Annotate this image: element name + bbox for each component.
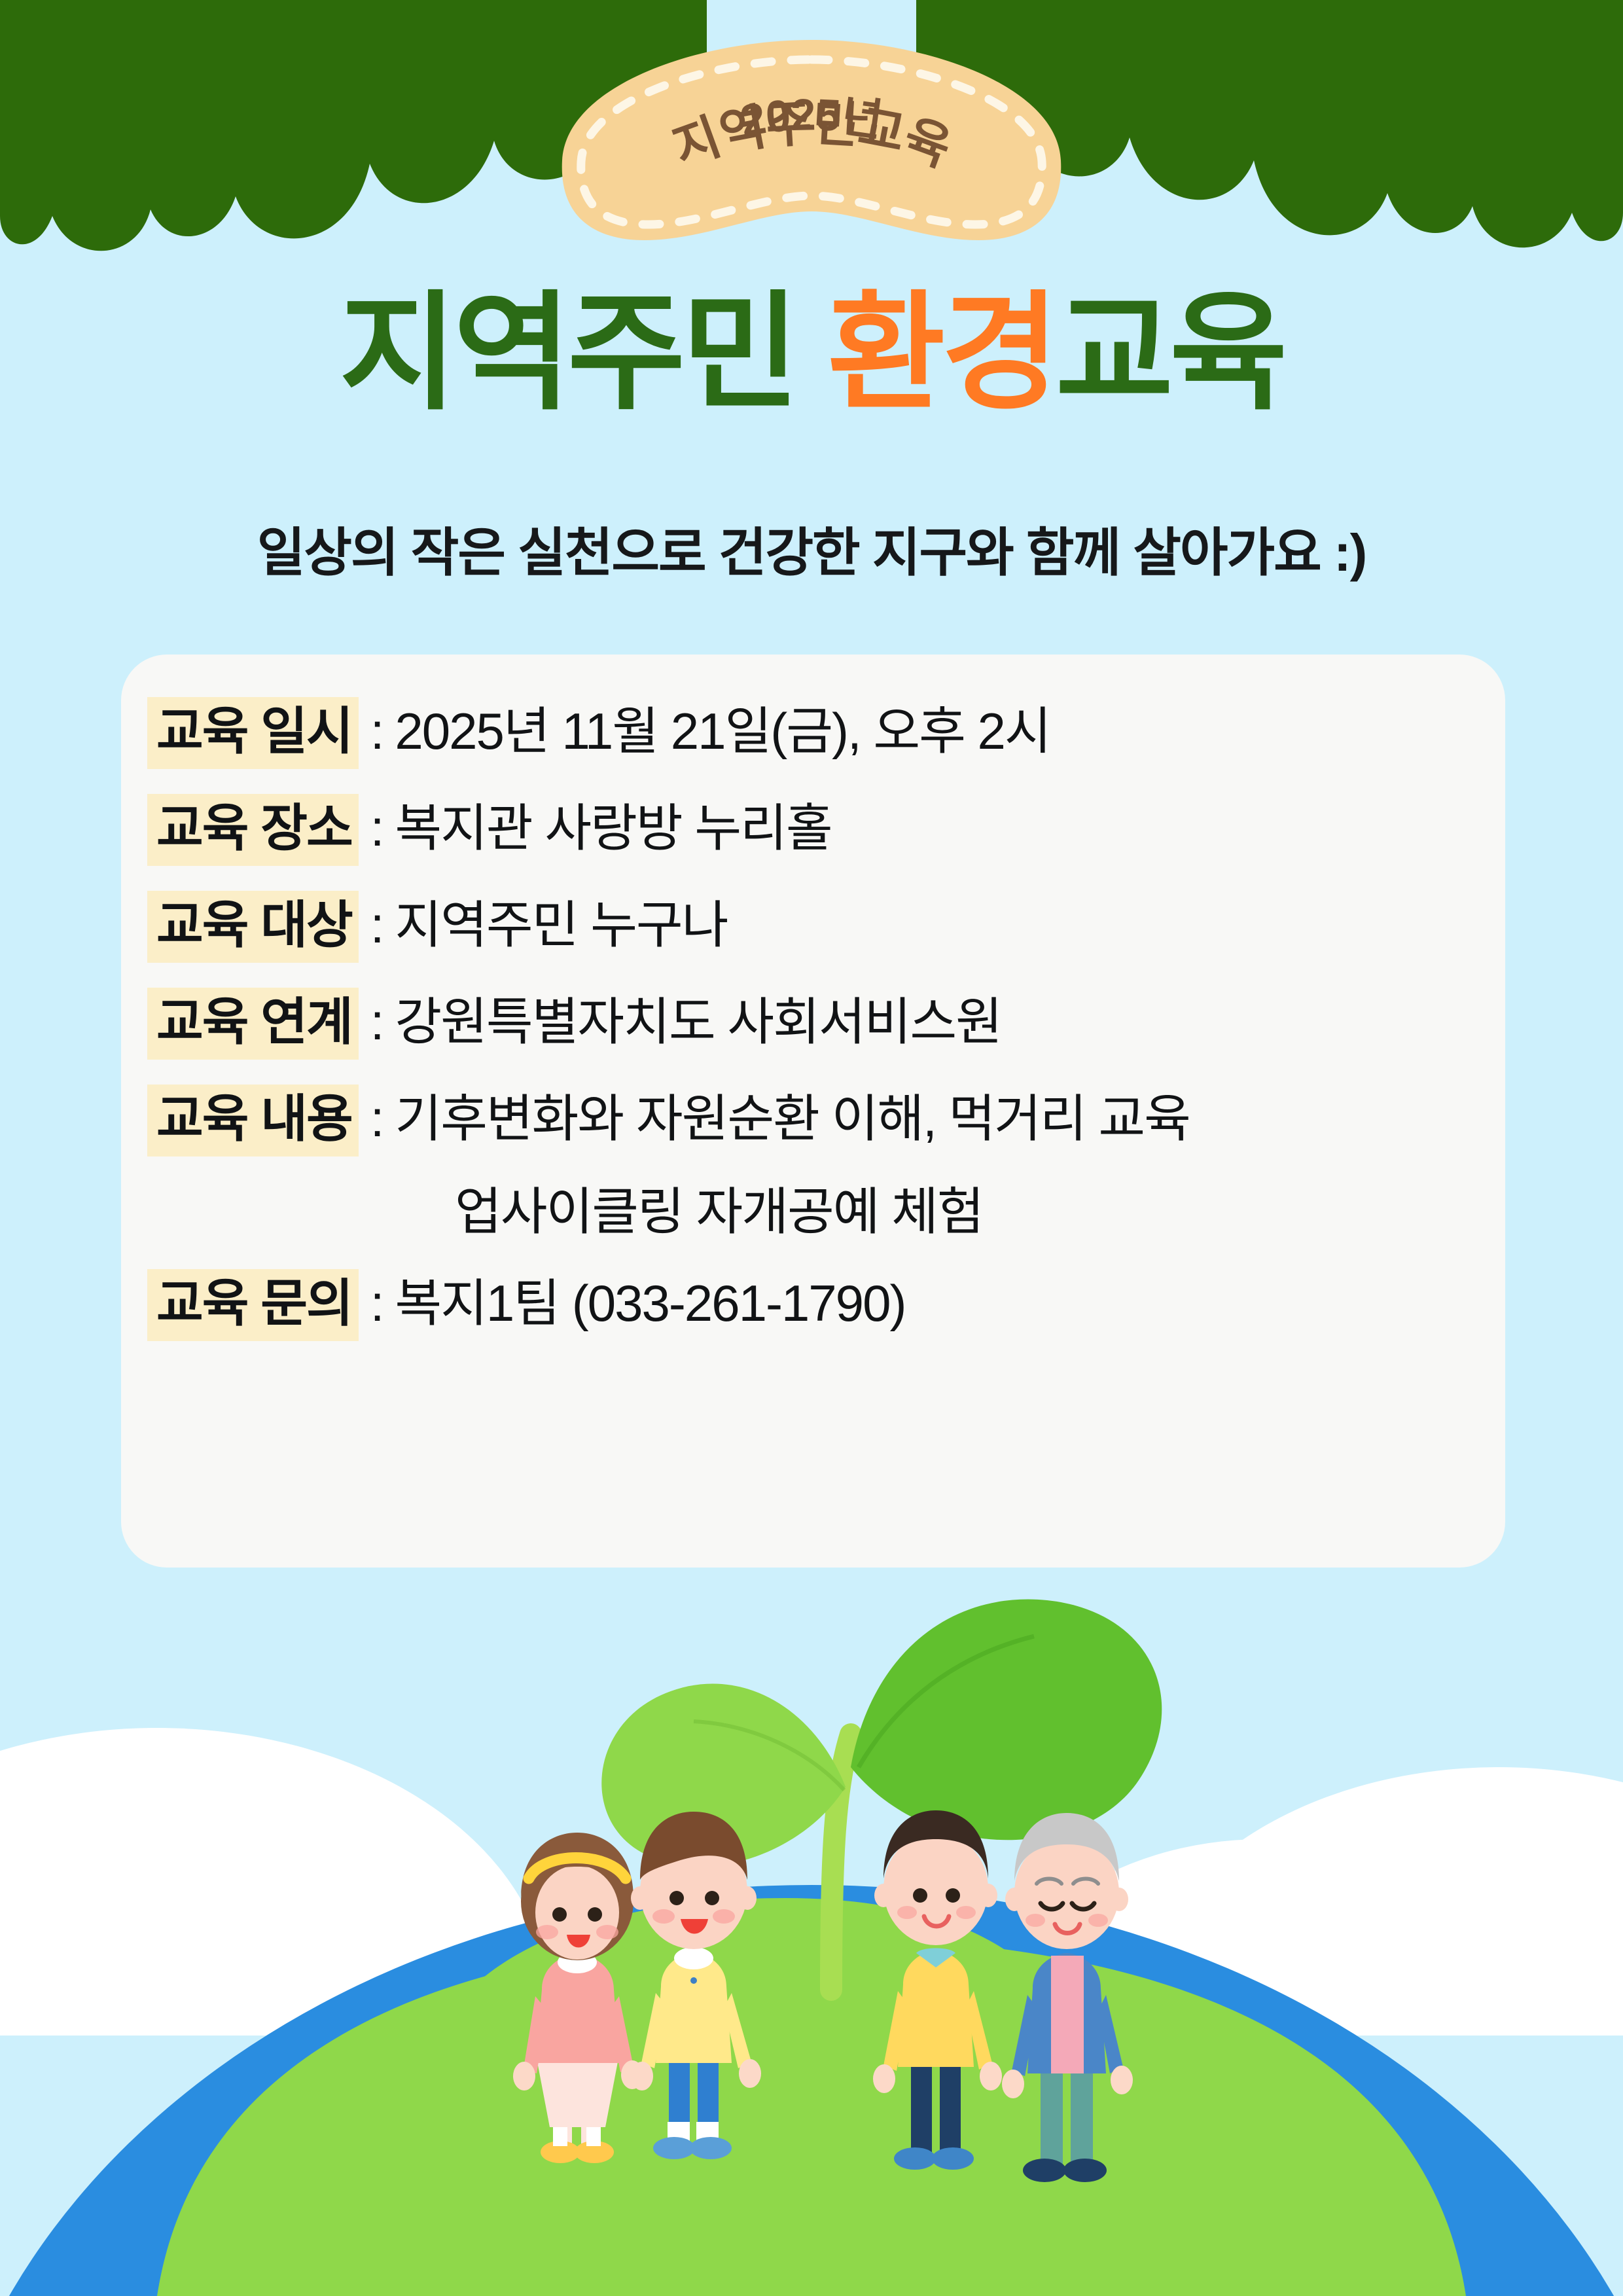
detail-label: 교육 내용 — [147, 1085, 359, 1157]
page-subtitle: 일상의 작은 실천으로 건강한 지구와 함께 살아가요 :) — [0, 511, 1623, 586]
detail-label: 교육 대상 — [147, 891, 359, 963]
detail-separator: : — [359, 1274, 395, 1333]
detail-separator: : — [359, 1089, 395, 1149]
title-part-environment: 환경 — [827, 281, 1056, 425]
detail-label: 교육 장소 — [147, 794, 359, 866]
event-badge: 2025년 지역주민교육 — [553, 36, 1070, 245]
detail-row-partner: 교육 연계 : 강원특별자치도 사회서비스원 — [147, 981, 1459, 1060]
poster-root: 2025년 지역주민교육 지역주민 환경교육 일상의 작은 실천으로 건강한 지… — [0, 0, 1623, 2296]
detail-value: 기후변화와 자원순환 이해, 먹거리 교육 — [395, 1078, 1190, 1151]
detail-label: 교육 연계 — [147, 988, 359, 1060]
earth-illustration — [0, 1571, 1623, 2296]
detail-row-content-line2: 업사이클링 자개공예 체험 — [455, 1171, 1459, 1244]
detail-row-datetime: 교육 일시 : 2025년 11월 21일(금), 오후 2시 — [147, 691, 1459, 769]
detail-value: 강원특별자치도 사회서비스원 — [395, 981, 1001, 1054]
detail-label: 교육 문의 — [147, 1269, 359, 1341]
detail-separator: : — [359, 992, 395, 1052]
detail-separator: : — [359, 895, 395, 955]
title-part-community: 지역주민 — [339, 281, 827, 425]
detail-separator: : — [359, 798, 395, 858]
detail-row-audience: 교육 대상 : 지역주민 누구나 — [147, 884, 1459, 963]
detail-row-contact: 교육 문의 : 복지1팀 (033-261-1790) — [147, 1263, 1459, 1341]
detail-label: 교육 일시 — [147, 697, 359, 769]
event-details-card: 교육 일시 : 2025년 11월 21일(금), 오후 2시 교육 장소 : … — [121, 655, 1505, 1568]
sprout-leaf-right — [851, 1600, 1162, 1840]
detail-value: 업사이클링 자개공예 체험 — [455, 1171, 983, 1244]
detail-separator: : — [359, 702, 395, 761]
detail-value: 지역주민 누구나 — [395, 884, 727, 958]
page-title: 지역주민 환경교육 — [0, 281, 1623, 425]
detail-row-location: 교육 장소 : 복지관 사랑방 누리홀 — [147, 787, 1459, 866]
detail-value: 2025년 11월 21일(금), 오후 2시 — [395, 691, 1050, 764]
detail-value: 복지관 사랑방 누리홀 — [395, 787, 831, 861]
detail-row-content: 교육 내용 : 기후변화와 자원순환 이해, 먹거리 교육 — [147, 1078, 1459, 1157]
detail-value: 복지1팀 (033-261-1790) — [395, 1263, 905, 1336]
title-part-education: 교육 — [1056, 281, 1284, 425]
